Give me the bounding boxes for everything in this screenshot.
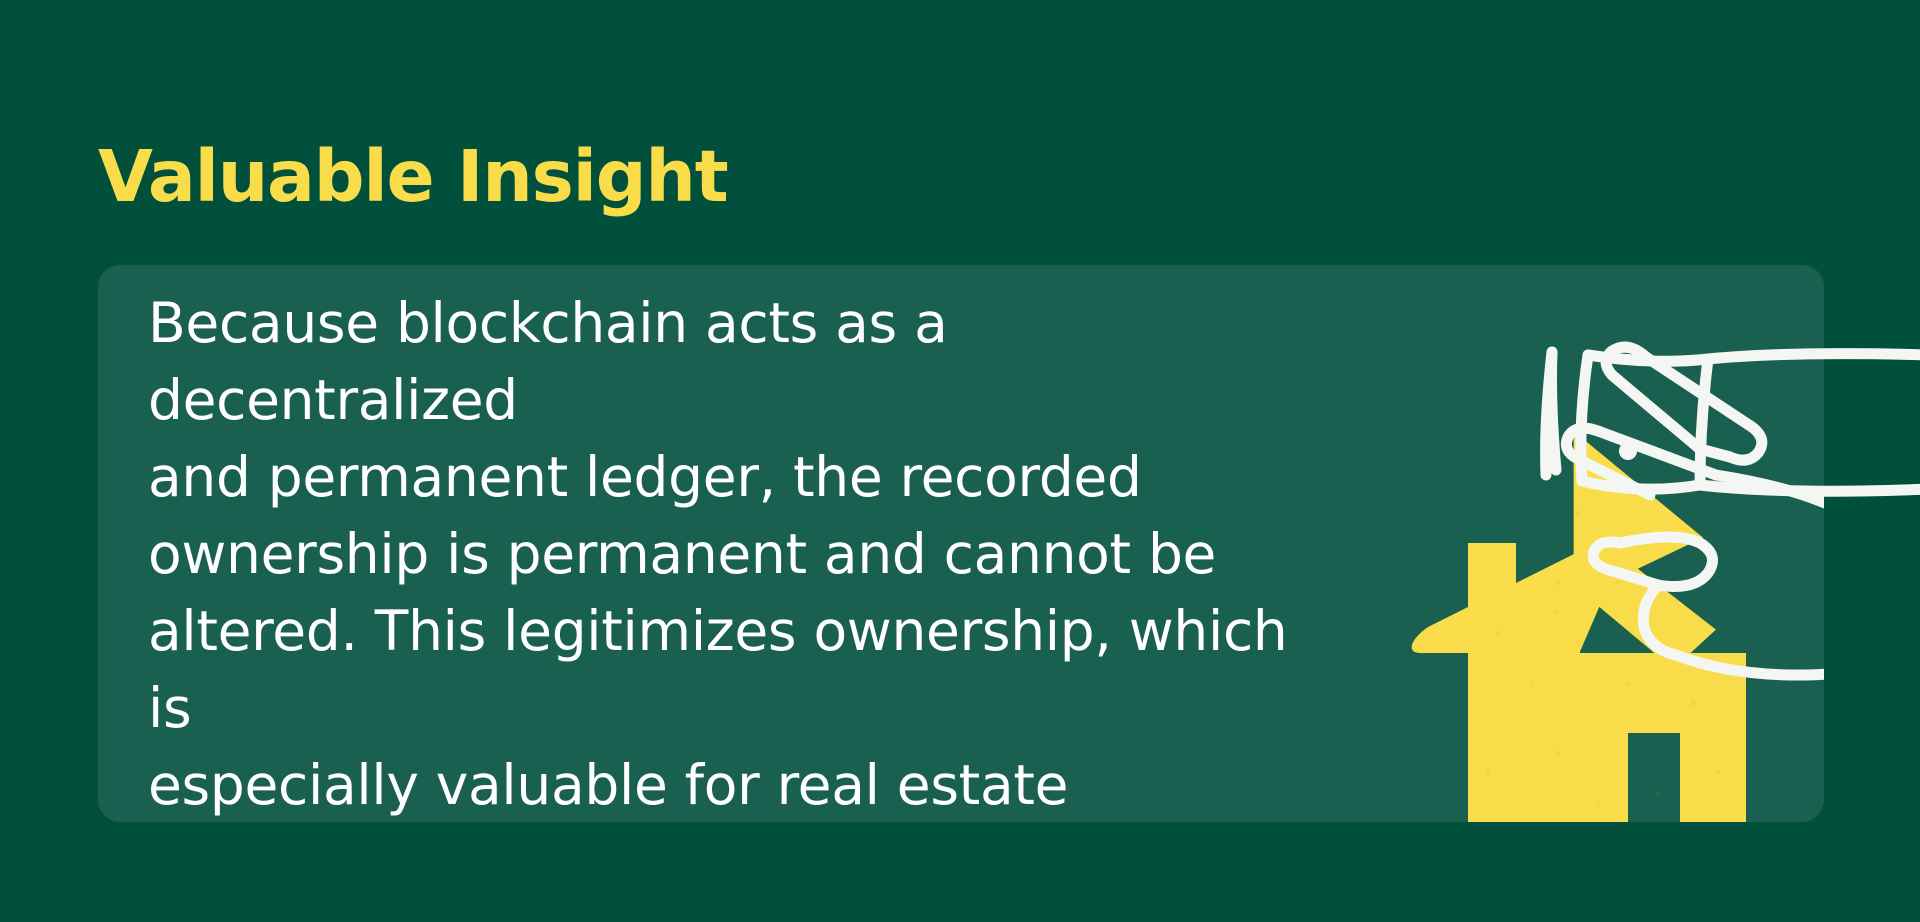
hand-icon: [1566, 347, 1824, 683]
house-texture: [1486, 581, 1720, 805]
down-arrow-icon: [1511, 405, 1735, 695]
insight-body-text: Because blockchain acts as a decentraliz…: [148, 285, 1323, 822]
arrow-texture: [1554, 511, 1620, 615]
insight-illustration: [1328, 265, 1824, 822]
insight-card: Because blockchain acts as a decentraliz…: [98, 265, 1824, 822]
body-line: especially valuable for real estate inve…: [148, 747, 1323, 822]
body-line: Because blockchain acts as a decentraliz…: [148, 285, 1323, 439]
house-icon: [1412, 543, 1746, 822]
page-title: Valuable Insight: [98, 140, 727, 215]
body-line: altered. This legitimizes ownership, whi…: [148, 593, 1323, 747]
body-line: and permanent ledger, the recorded: [148, 439, 1323, 516]
insight-slide: Valuable Insight Because blockchain acts…: [0, 0, 1920, 922]
body-line: ownership is permanent and cannot be: [148, 516, 1323, 593]
